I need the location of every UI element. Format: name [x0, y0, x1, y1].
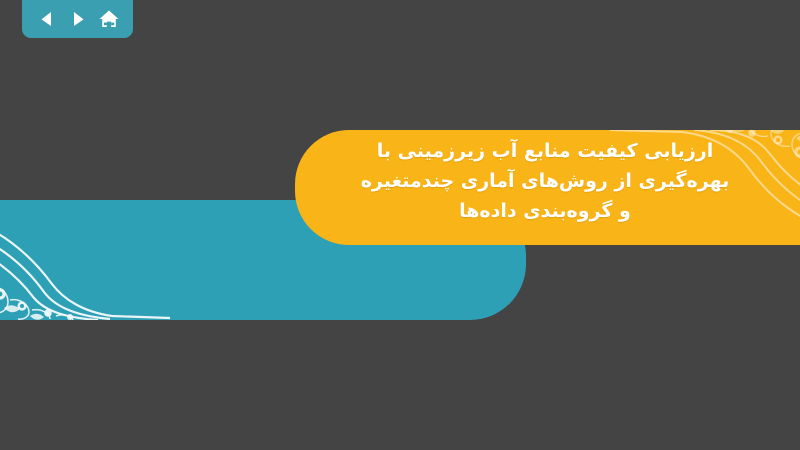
- orange-title-banner: ارزیابی کیفیت منابع آب زیرزمینی با بهره‌…: [295, 130, 800, 245]
- forward-button[interactable]: [65, 6, 91, 32]
- page-title: ارزیابی کیفیت منابع آب زیرزمینی با بهره‌…: [360, 136, 730, 226]
- home-button[interactable]: [96, 6, 122, 32]
- navigation-bar: [22, 0, 133, 38]
- arabesque-ornament: [0, 202, 170, 320]
- slide-canvas: ارزیابی کیفیت منابع آب زیرزمینی با بهره‌…: [0, 0, 800, 450]
- back-arrow-icon: [37, 9, 57, 29]
- home-icon: [98, 8, 120, 30]
- back-button[interactable]: [34, 6, 60, 32]
- forward-arrow-icon: [68, 9, 88, 29]
